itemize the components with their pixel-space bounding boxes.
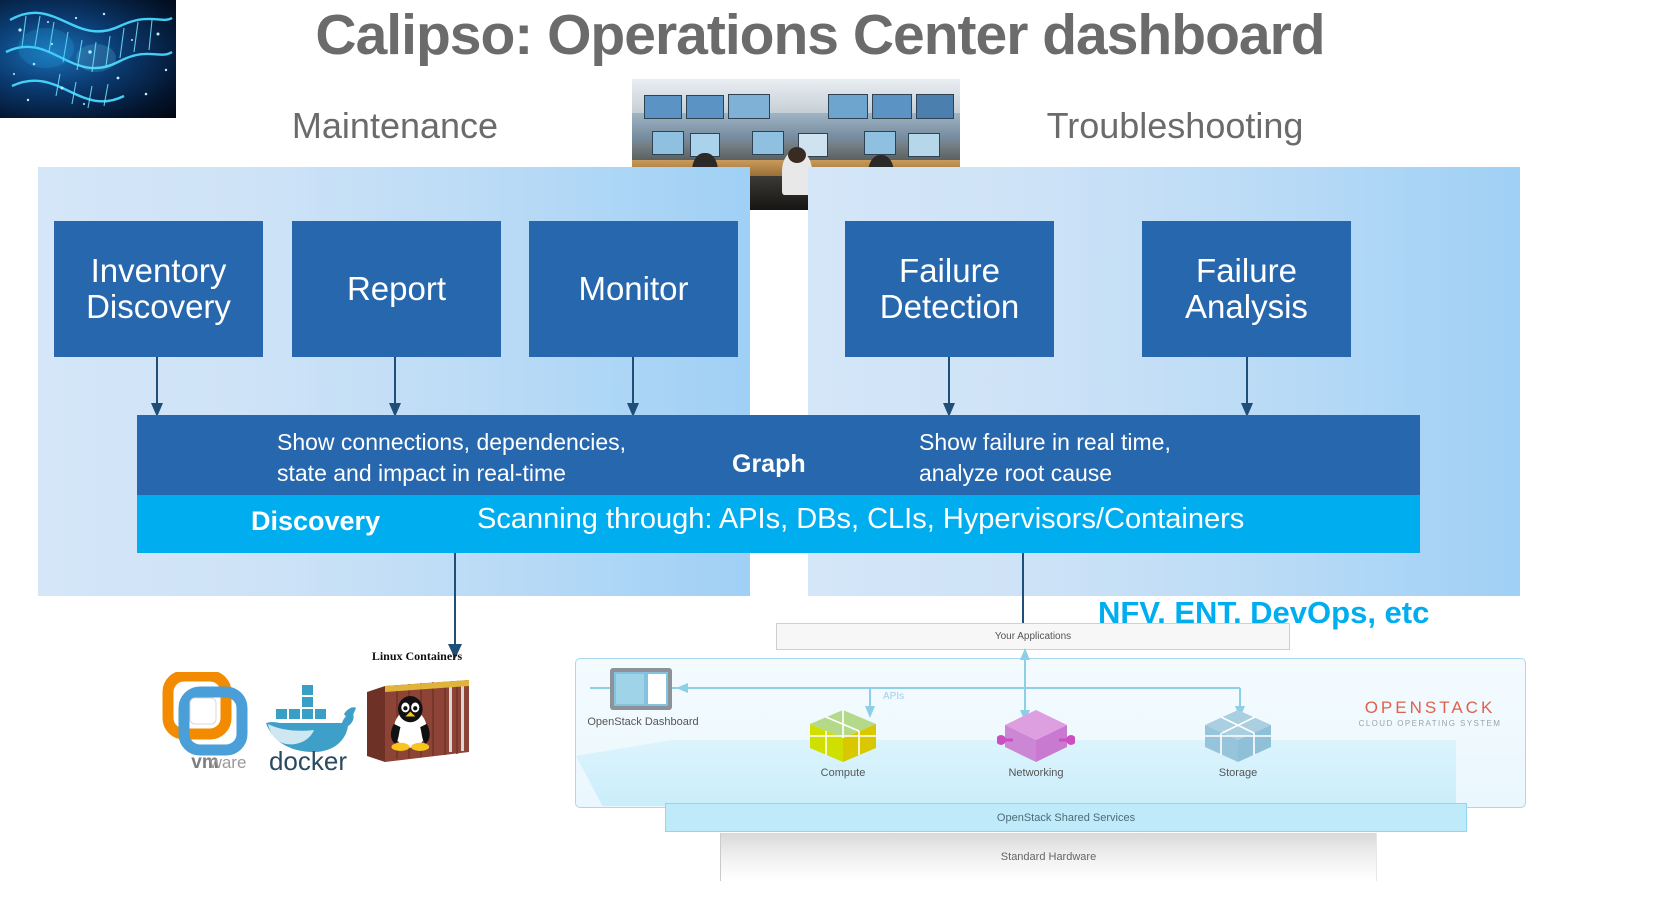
openstack-logo-main: OPENSTACK [1340,698,1520,718]
graph-right-line1: Show failure in real time, [919,427,1319,458]
networking-cube-icon [997,706,1075,766]
docker-logo: docker [258,678,358,773]
openstack-architecture-diagram: Your Applications OpenStack Dashboard AP… [570,620,1530,901]
dna-helix-icon [0,0,176,118]
capability-box-monitor[interactable]: Monitor [529,221,738,357]
capability-label-line1: Report [347,271,446,307]
openstack-apis-label: APIs [883,691,904,702]
capability-box-failure-analysis[interactable]: Failure Analysis [1142,221,1351,357]
openstack-node-label: Compute [795,767,891,779]
discovery-bar-label: Discovery [251,506,380,537]
arrow-discovery-to-vendors [440,553,470,661]
capability-label-line1: Failure [1185,253,1308,289]
capability-label-line2: Discovery [86,289,231,325]
capability-box-report[interactable]: Report [292,221,501,357]
vmware-logo: vm ware [160,672,250,772]
arrow-failure-analysis-to-graph [1234,357,1260,419]
capability-label-line1: Monitor [578,271,688,307]
openstack-node-label: Networking [988,767,1084,779]
discovery-bar-text: Scanning through: APIs, DBs, CLIs, Hyper… [477,503,1244,536]
openstack-logo: OPENSTACK CLOUD OPERATING SYSTEM [1340,698,1520,728]
openstack-node-networking: Networking [988,706,1084,779]
docker-whale-icon: docker [258,678,358,773]
openstack-standard-hardware-bar: Standard Hardware [720,833,1377,881]
graph-right-line2: analyze root cause [919,458,1319,489]
column-caption-maintenance: Maintenance [210,105,580,147]
openstack-node-label: Storage [1190,767,1286,779]
arrow-report-to-graph [382,357,408,419]
vmware-icon: vm ware [160,672,250,772]
graph-description-right: Show failure in real time, analyze root … [919,427,1319,489]
storage-cube-icon [1199,706,1277,766]
capability-label-line1: Inventory [86,253,231,289]
discovery-bar: Discovery Scanning through: APIs, DBs, C… [137,495,1420,553]
capability-label-line2: Analysis [1185,289,1308,325]
arrow-inventory-to-graph [144,357,170,419]
capability-label-line2: Detection [880,289,1019,325]
graph-bar-label: Graph [732,450,806,479]
openstack-your-applications-box: Your Applications [776,623,1290,650]
openstack-node-storage: Storage [1190,706,1286,779]
capability-box-failure-detection[interactable]: Failure Detection [845,221,1054,357]
compute-cube-icon [804,706,882,766]
openstack-node-compute: Compute [795,706,891,779]
capability-box-inventory-discovery[interactable]: Inventory Discovery [54,221,263,357]
graph-left-line2: state and impact in real-time [277,458,707,489]
shipping-container-icon [357,670,475,770]
column-caption-troubleshooting: Troubleshooting [975,105,1375,147]
svg-text:ware: ware [209,753,247,772]
openstack-shared-services-bar: OpenStack Shared Services [665,803,1467,832]
graph-bar: Show connections, dependencies, state an… [137,415,1420,495]
openstack-logo-sub: CLOUD OPERATING SYSTEM [1340,719,1520,728]
arrow-monitor-to-graph [620,357,646,419]
page-title: Calipso: Operations Center dashboard [170,2,1470,68]
svg-text:docker: docker [269,746,347,773]
linux-containers-label: Linux Containers [352,649,482,664]
openstack-dashboard-icon [610,668,672,710]
openstack-dashboard-label: OpenStack Dashboard [573,716,713,728]
linux-container-logo [357,670,475,770]
arrow-failure-detection-to-graph [936,357,962,419]
dna-helix-logo [0,0,176,118]
graph-description-left: Show connections, dependencies, state an… [277,427,707,489]
capability-label-line1: Failure [880,253,1019,289]
graph-left-line1: Show connections, dependencies, [277,427,707,458]
